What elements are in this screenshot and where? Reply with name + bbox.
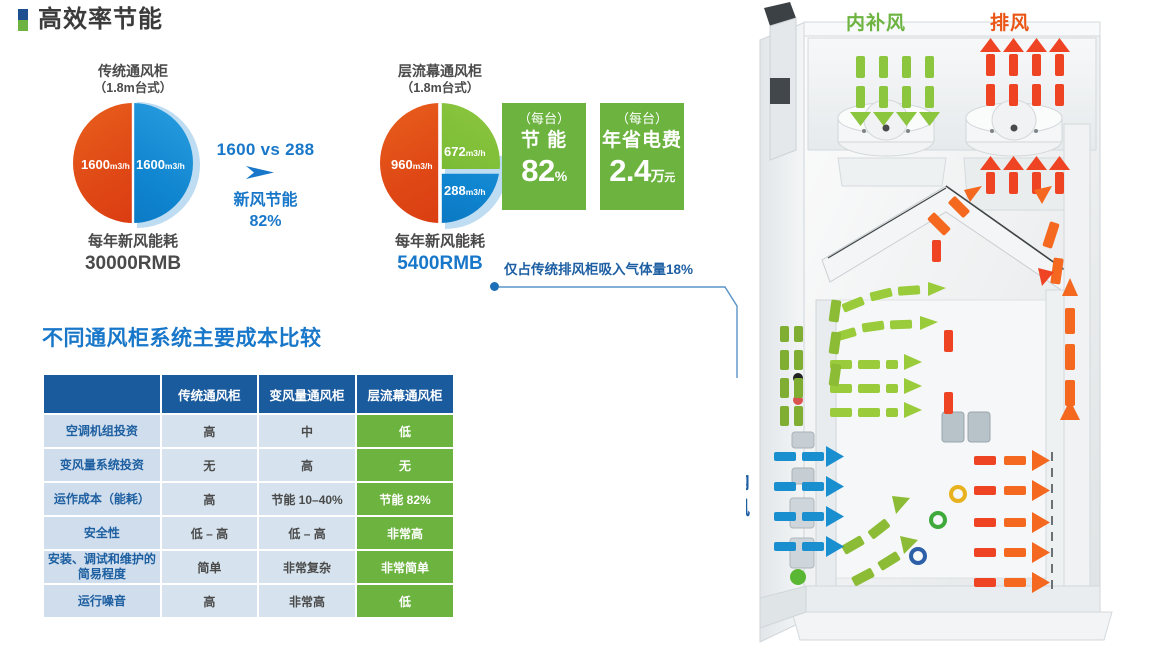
table-cell-highlight: 低 [357, 585, 453, 617]
table-row-label: 运行噪音 [44, 585, 160, 617]
badge-value: 82% [502, 154, 586, 193]
vs-line2: 82% [198, 212, 333, 232]
table-row-label: 变风量系统投资 [44, 449, 160, 481]
page-title: 高效率节能 [38, 8, 163, 32]
label-indoor-line2: 新风 [746, 496, 750, 522]
table-cell: 中 [259, 415, 355, 447]
table-header-row: 传统通风柜 变风量通风柜 层流幕通风柜 [44, 375, 453, 413]
footer-label: 每年新风能耗 [395, 233, 485, 250]
table-cell: 非常高 [259, 585, 355, 617]
table-row-label: 空调机组投资 [44, 415, 160, 447]
table-header-traditional: 传统通风柜 [162, 375, 257, 413]
chart-caption: 层流幕通风柜 [325, 62, 555, 80]
table-cell-highlight: 低 [357, 415, 453, 447]
table-cell: 高 [259, 449, 355, 481]
pie-label-makeup: 1600m3/h [136, 156, 185, 174]
badge-value: 2.4万元 [600, 154, 684, 195]
badge-top-label: （每台） [600, 110, 684, 128]
table-cell-highlight: 节能 82% [357, 483, 453, 515]
table-cell: 无 [162, 449, 257, 481]
table-cell: 简单 [162, 551, 257, 583]
fume-hood-illustration: 内补风 排风 室内 新风 [746, 0, 1149, 660]
table-cell: 高 [162, 415, 257, 447]
label-indoor-fresh-air: 室内 新风 [746, 470, 750, 522]
table-row: 运行噪音高非常高低 [44, 585, 453, 617]
badge-mid-label: 节 能 [502, 128, 586, 154]
chart-caption: 传统通风柜 [18, 62, 248, 80]
arrow-right-icon [244, 164, 288, 181]
page-header: 高效率节能 [18, 8, 163, 32]
callout-text: 仅占传统排风柜吸入气体量18% [504, 258, 693, 278]
table-cell: 低 – 高 [259, 517, 355, 549]
fume-hood-drawing [746, 0, 1149, 660]
table-header-blank [44, 375, 160, 413]
table-row: 变风量系统投资无高无 [44, 449, 453, 481]
pie-label-exhaust: 1600m3/h [81, 156, 130, 174]
table-cell-highlight: 非常高 [357, 517, 453, 549]
table-row-label: 安装、调试和维护的简易程度 [44, 551, 160, 583]
table-cell: 低 – 高 [162, 517, 257, 549]
comparison-summary: 1600 vs 288 新风节能 82% [198, 140, 333, 232]
table-cell: 高 [162, 585, 257, 617]
table-cell-highlight: 非常简单 [357, 551, 453, 583]
table-row: 安装、调试和维护的简易程度简单非常复杂非常简单 [44, 551, 453, 583]
table-row: 运作成本（能耗）高节能 10–40%节能 82% [44, 483, 453, 515]
table-cell: 高 [162, 483, 257, 515]
section-title: 不同通风柜系统主要成本比较 [42, 322, 322, 352]
footer-value: 30000RMB [18, 252, 248, 276]
savings-badges: （每台） 节 能 82% （每台） 年省电费 2.4万元 [502, 103, 684, 210]
infographic-page: 高效率节能 传统通风柜 （1.8m台式） 1600m3/h 1600m3/h 每… [0, 0, 1149, 660]
table-header-laminar: 层流幕通风柜 [357, 375, 453, 413]
table-cell: 非常复杂 [259, 551, 355, 583]
table-row-label: 运作成本（能耗） [44, 483, 160, 515]
pie-label-inner-makeup: 672m3/h [444, 143, 486, 161]
badge-yearly-cost-saving: （每台） 年省电费 2.4万元 [600, 103, 684, 210]
table-row-label: 安全性 [44, 517, 160, 549]
badge-mid-label: 年省电费 [600, 128, 684, 154]
footer-label: 每年新风能耗 [88, 233, 178, 250]
vs-headline: 1600 vs 288 [198, 140, 333, 160]
table-cell-highlight: 无 [357, 449, 453, 481]
badge-energy-saving: （每台） 节 能 82% [502, 103, 586, 210]
chart-subcaption: （1.8m台式） [325, 80, 555, 97]
vs-line1: 新风节能 [198, 190, 333, 212]
label-supply-air: 内补风 [846, 8, 906, 35]
pie-label-exhaust: 960m3/h [391, 156, 433, 174]
table-row: 安全性低 – 高低 – 高非常高 [44, 517, 453, 549]
table-row: 空调机组投资高中低 [44, 415, 453, 447]
header-marker-icon [18, 9, 28, 31]
chart-subcaption: （1.8m台式） [18, 80, 248, 97]
pie-chart-laminar: 960m3/h 672m3/h 288m3/h [380, 103, 500, 223]
table-cell: 节能 10–40% [259, 483, 355, 515]
badge-top-label: （每台） [502, 110, 586, 128]
pie-label-fresh-air: 288m3/h [444, 182, 486, 200]
cost-comparison-table: 传统通风柜 变风量通风柜 层流幕通风柜 空调机组投资高中低变风量系统投资无高无运… [42, 373, 455, 619]
table-header-vav: 变风量通风柜 [259, 375, 355, 413]
label-indoor-line1: 室内 [746, 470, 750, 496]
callout-leader-line [497, 278, 747, 388]
pie-chart-traditional: 1600m3/h 1600m3/h [73, 103, 193, 223]
chart-footer-traditional: 每年新风能耗 30000RMB [18, 231, 248, 276]
label-exhaust-air: 排风 [990, 8, 1030, 35]
